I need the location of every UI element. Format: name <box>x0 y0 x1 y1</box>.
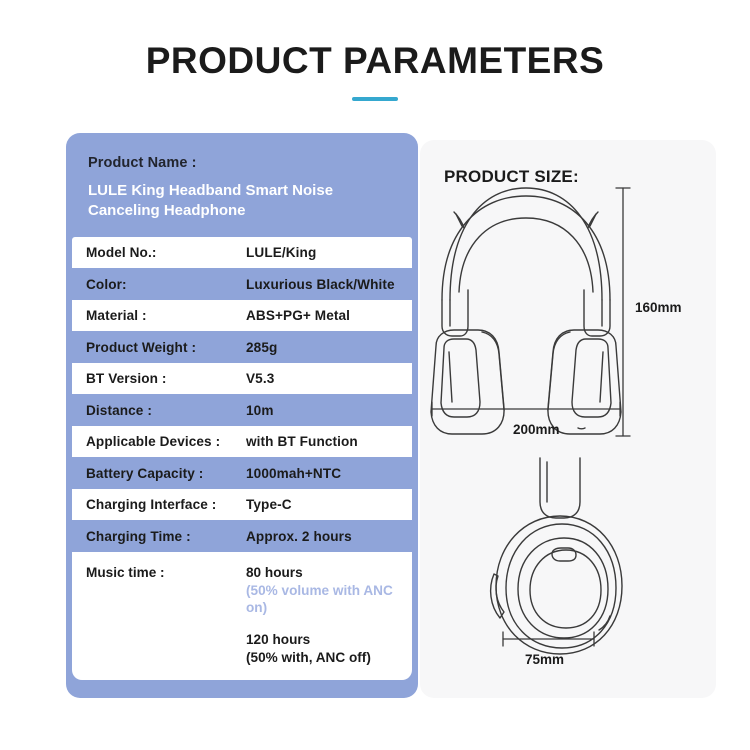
spec-key: Battery Capacity : <box>86 466 246 481</box>
spec-value: ABS+PG+ Metal <box>246 308 350 323</box>
spec-value: 10m <box>246 403 274 418</box>
spec-value: Luxurious Black/White <box>246 277 395 292</box>
table-row-music-time: Music time : 80 hours (50% volume with A… <box>72 552 412 680</box>
table-row: Product Weight : 285g <box>72 331 412 363</box>
table-row: Material : ABS+PG+ Metal <box>72 300 412 332</box>
spec-key: Material : <box>86 308 246 323</box>
music-time-line-2: 120 hours <box>246 631 412 649</box>
headphones-dimension-drawing <box>420 140 716 698</box>
spec-value: with BT Function <box>246 434 358 449</box>
dimension-line-width <box>432 402 620 416</box>
spec-value: 1000mah+NTC <box>246 466 341 481</box>
table-row: Color: Luxurious Black/White <box>72 268 412 300</box>
spec-value: 285g <box>246 340 277 355</box>
table-row: Charging Time : Approx. 2 hours <box>72 520 412 552</box>
spacer <box>246 617 412 631</box>
dimension-line-depth <box>503 632 594 646</box>
table-row: Applicable Devices : with BT Function <box>72 426 412 458</box>
page-title: PRODUCT PARAMETERS <box>0 40 750 82</box>
spec-key: Distance : <box>86 403 246 418</box>
product-parameters-page: PRODUCT PARAMETERS Product Name : LULE K… <box>0 0 750 750</box>
dimension-line-height <box>616 188 630 436</box>
table-row: Model No.: LULE/King <box>72 237 412 269</box>
music-time-note-2: (50% with, ANC off) <box>246 649 412 667</box>
dimension-label-depth: 75mm <box>525 652 564 667</box>
spec-key: Music time : <box>86 564 246 580</box>
table-row: Charging Interface : Type-C <box>72 489 412 521</box>
headphones-side-view <box>491 458 622 654</box>
spec-value: Approx. 2 hours <box>246 529 352 544</box>
spec-key: Product Weight : <box>86 340 246 355</box>
spec-key: Applicable Devices : <box>86 434 246 449</box>
headphones-front-view <box>431 188 621 434</box>
spec-key: Color: <box>86 277 246 292</box>
product-name-label: Product Name : <box>88 155 396 171</box>
music-time-line-1: 80 hours <box>246 564 412 582</box>
spec-key: Model No.: <box>86 245 246 260</box>
spec-value-group: 80 hours (50% volume with ANC on) 120 ho… <box>246 564 412 666</box>
table-row: Distance : 10m <box>72 394 412 426</box>
product-size-panel: PRODUCT SIZE: <box>420 140 716 698</box>
spec-key: BT Version : <box>86 371 246 386</box>
table-row: BT Version : V5.3 <box>72 363 412 395</box>
product-name-header: Product Name : LULE King Headband Smart … <box>66 133 418 237</box>
spec-value: V5.3 <box>246 371 274 386</box>
music-time-note-1: (50% volume with ANC on) <box>246 582 412 617</box>
title-accent-rule <box>352 97 398 101</box>
spec-key: Charging Time : <box>86 529 246 544</box>
spec-value: LULE/King <box>246 245 316 260</box>
spec-key: Charging Interface : <box>86 497 246 512</box>
specification-panel: Product Name : LULE King Headband Smart … <box>66 133 418 698</box>
dimension-label-width: 200mm <box>513 422 560 437</box>
spec-rows: Model No.: LULE/King Color: Luxurious Bl… <box>66 237 418 686</box>
spec-value: Type-C <box>246 497 292 512</box>
dimension-label-height: 160mm <box>635 300 682 315</box>
table-row: Battery Capacity : 1000mah+NTC <box>72 457 412 489</box>
product-name-value: LULE King Headband Smart Noise Canceling… <box>88 181 396 221</box>
